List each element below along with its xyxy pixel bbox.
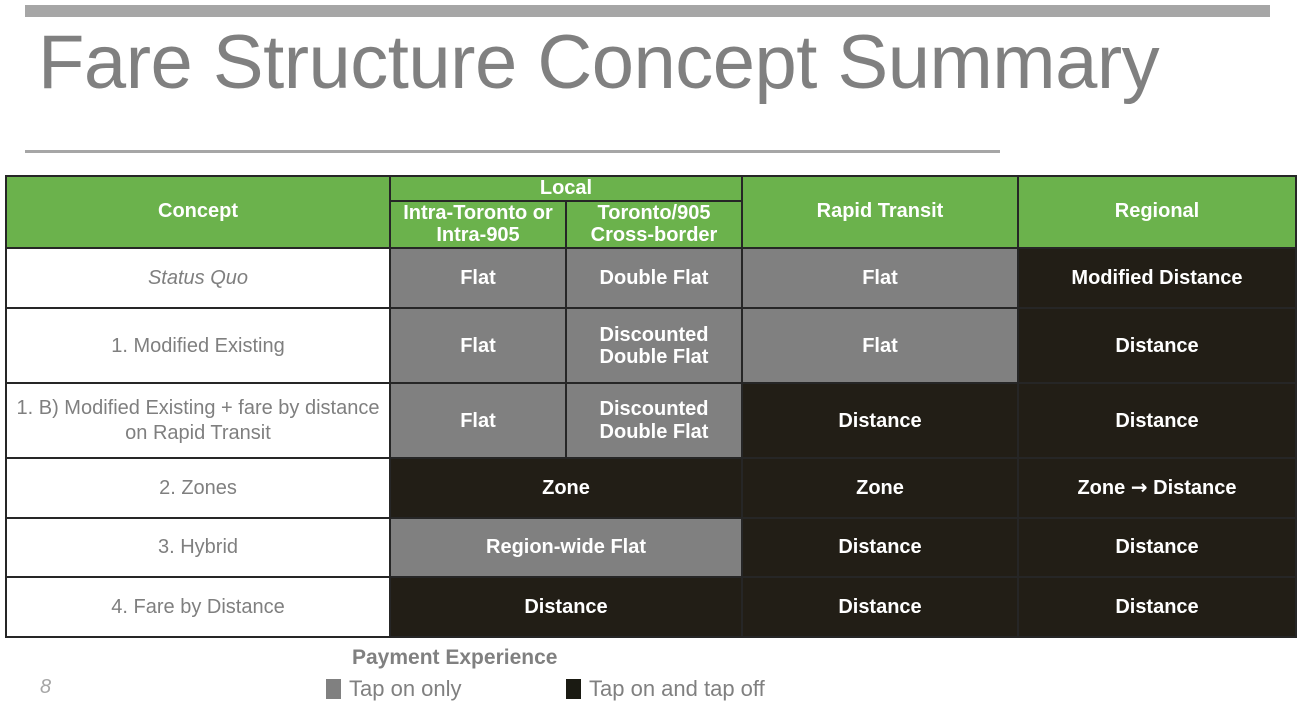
cell-rapid-transit: Zone [742,458,1018,518]
row-label-concept: 2. Zones [6,458,390,518]
cell-local-cross: DiscountedDouble Flat [566,308,742,383]
legend-swatch-tap-on [326,679,341,699]
cell-local-cross: DiscountedDouble Flat [566,383,742,458]
cell-regional: Modified Distance [1018,248,1296,309]
cell-regional: Distance [1018,518,1296,578]
arrow-right-icon: → [1131,475,1148,499]
legend-item-tap-on: Tap on only [326,676,462,702]
row-label-concept: 1. Modified Existing [6,308,390,383]
column-header-local-cross-line2: Cross-border [591,224,718,246]
table-row: 1. Modified ExistingFlatDiscountedDouble… [6,308,1296,383]
column-header-local-intra: Intra-Toronto or Intra-905 [390,201,566,248]
cell-local-intra: Flat [390,308,566,383]
cell-rapid-transit: Flat [742,308,1018,383]
legend-label-tap-on-and-tap-off: Tap on and tap off [589,676,765,702]
page-number: 8 [40,676,51,699]
cell-regional: Zone → Distance [1018,458,1296,518]
page-title: Fare Structure Concept Summary [38,16,1258,110]
cell-local-cross: Double Flat [566,248,742,309]
table-header-row-1: Concept Local Rapid Transit Regional [6,176,1296,201]
table-head: Concept Local Rapid Transit Regional Int… [6,176,1296,248]
cell-local-cross-line1: Discounted [600,324,709,346]
cell-local-combined: Distance [390,577,742,637]
column-header-rapid-transit: Rapid Transit [742,176,1018,248]
legend-label-tap-on: Tap on only [349,676,462,702]
table-row: 3. HybridRegion-wide FlatDistanceDistanc… [6,518,1296,578]
row-label-concept: 4. Fare by Distance [6,577,390,637]
cell-local-combined: Zone [390,458,742,518]
cell-local-cross-line2: Double Flat [600,421,709,443]
cell-local-intra: Flat [390,248,566,309]
column-header-local-intra-line2: Intra-905 [436,224,519,246]
table-row: 1. B) Modified Existing + fare by distan… [6,383,1296,458]
column-header-local-intra-line1: Intra-Toronto or [403,202,553,224]
column-header-local-cross: Toronto/905 Cross-border [566,201,742,248]
legend-swatch-tap-on-and-tap-off [566,679,581,699]
row-label-concept: 1. B) Modified Existing + fare by distan… [6,383,390,458]
title-divider [25,150,1000,153]
column-header-concept: Concept [6,176,390,248]
legend-title: Payment Experience [352,646,557,670]
table-body: Status QuoFlatDouble FlatFlatModified Di… [6,248,1296,637]
column-header-local-cross-line1: Toronto/905 [598,202,711,224]
cell-local-cross-line1: Discounted [600,398,709,420]
legend-item-tap-on-and-tap-off: Tap on and tap off [566,676,765,702]
cell-local-cross-line2: Double Flat [600,346,709,368]
cell-rapid-transit: Distance [742,383,1018,458]
table-row: 4. Fare by DistanceDistanceDistanceDista… [6,577,1296,637]
cell-rapid-transit: Distance [742,518,1018,578]
cell-regional: Distance [1018,308,1296,383]
row-label-concept: Status Quo [6,248,390,309]
cell-regional: Distance [1018,383,1296,458]
cell-regional: Distance [1018,577,1296,637]
cell-local-intra: Flat [390,383,566,458]
column-header-regional: Regional [1018,176,1296,248]
cell-local-combined: Region-wide Flat [390,518,742,578]
row-label-concept: 3. Hybrid [6,518,390,578]
cell-rapid-transit: Distance [742,577,1018,637]
legend: Payment Experience Tap on only Tap on an… [0,646,1298,707]
cell-rapid-transit: Flat [742,248,1018,309]
table-row: Status QuoFlatDouble FlatFlatModified Di… [6,248,1296,309]
table-row: 2. ZonesZoneZoneZone → Distance [6,458,1296,518]
column-header-local-group: Local [390,176,742,201]
fare-structure-table: Concept Local Rapid Transit Regional Int… [5,175,1297,638]
